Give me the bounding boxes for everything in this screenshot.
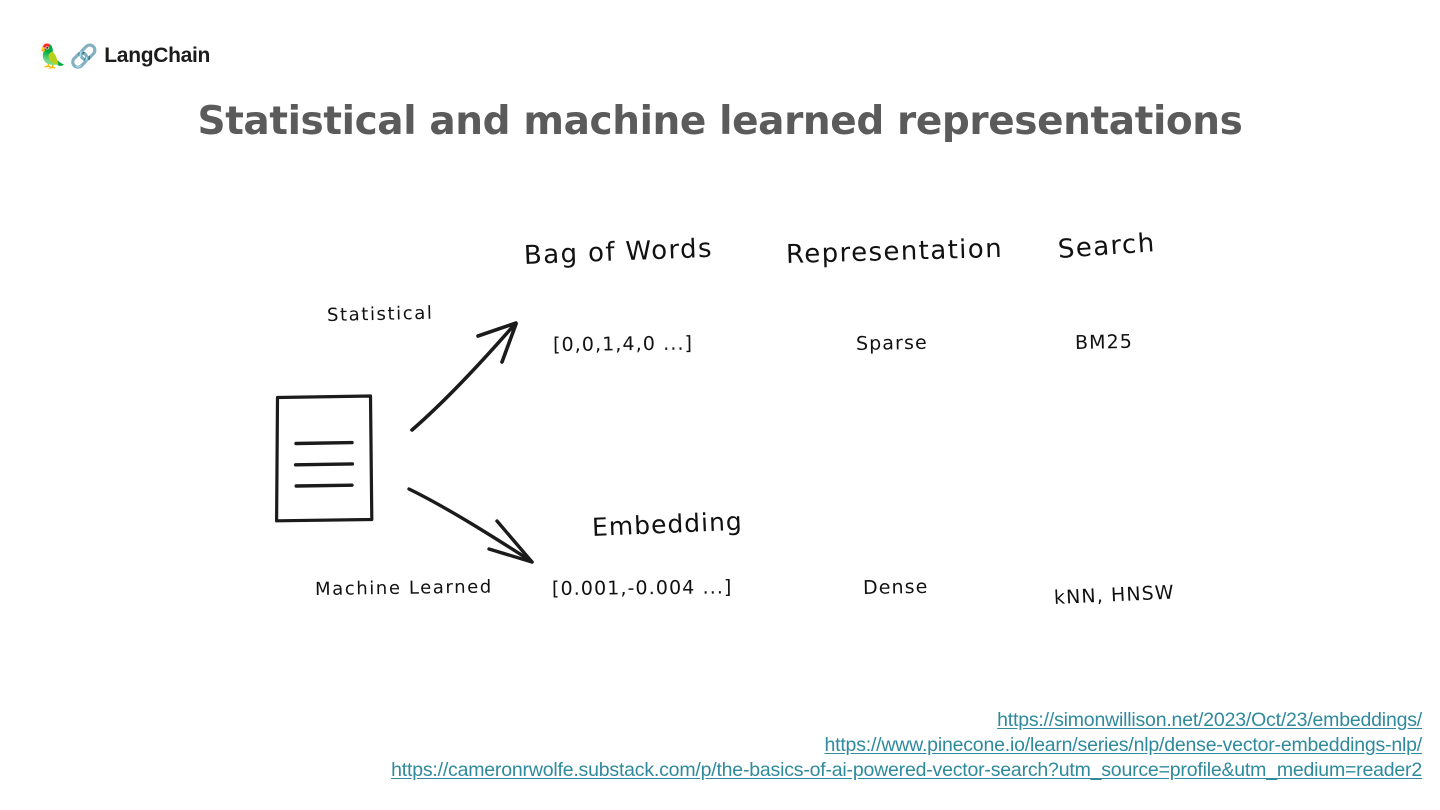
source-links: https://simonwillison.net/2023/Oct/23/em… (0, 708, 1422, 783)
branch-label-machine-learned: Machine Learned (315, 577, 493, 600)
arrow-to-bag-of-words (412, 323, 516, 430)
cell-machine-learned-representation: Dense (863, 576, 929, 599)
document-icon (277, 396, 372, 521)
cell-machine-learned-vector: [0.001,-0.004 ...] (552, 576, 733, 600)
cell-statistical-representation: Sparse (856, 332, 928, 355)
arrow-to-embedding (409, 489, 532, 562)
source-link-simonwillison[interactable]: https://simonwillison.net/2023/Oct/23/em… (0, 708, 1422, 733)
column-header-representation: Representation (786, 234, 1004, 270)
cell-statistical-vector: [0,0,1,4,0 ...] (553, 333, 693, 356)
cell-statistical-search: BM25 (1075, 331, 1133, 354)
source-link-pinecone[interactable]: https://www.pinecone.io/learn/series/nlp… (0, 733, 1422, 758)
source-link-cameronrwolfe[interactable]: https://cameronrwolfe.substack.com/p/the… (0, 758, 1422, 783)
representations-diagram: Bag of Words Representation Search Stati… (0, 0, 1440, 700)
branch-label-statistical: Statistical (327, 303, 434, 326)
